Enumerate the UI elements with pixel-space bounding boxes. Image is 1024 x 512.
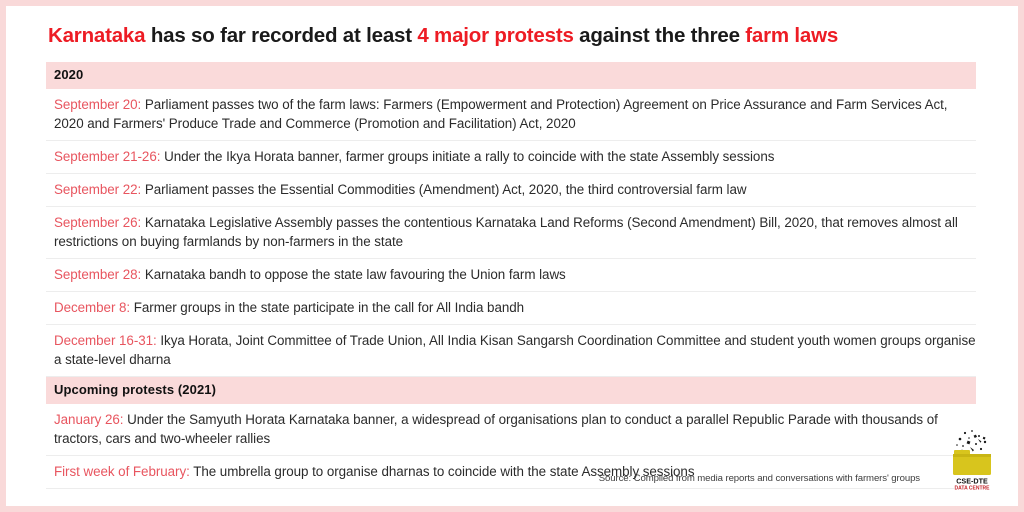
timeline-row-text: Parliament passes the Essential Commodit…	[141, 182, 746, 197]
timeline-row-date: December 16-31:	[54, 333, 157, 348]
timeline-row-text: Karnataka bandh to oppose the state law …	[141, 267, 566, 282]
source-note: Source: Compiled from media reports and …	[6, 473, 992, 484]
logo-line2: DATA CENTRE	[955, 485, 991, 491]
title-segment-2: 4 major protests	[417, 24, 573, 47]
cse-dte-data-centre-logo: CSE-DTE DATA CENTRE	[948, 428, 996, 492]
logo-line1: CSE-DTE	[956, 476, 988, 485]
title-segment-1: has so far recorded at least	[145, 24, 417, 47]
timeline-row-date: September 22:	[54, 182, 141, 197]
timeline-row: September 22: Parliament passes the Esse…	[46, 174, 976, 207]
timeline-row: January 26: Under the Samyuth Horata Kar…	[46, 404, 976, 456]
timeline-row-text: Karnataka Legislative Assembly passes th…	[54, 215, 958, 249]
title-segment-3: against the three	[574, 24, 746, 47]
timeline-row-date: December 8:	[54, 300, 130, 315]
timeline-row: December 8: Farmer groups in the state p…	[46, 292, 976, 325]
section-heading: Upcoming protests (2021)	[46, 377, 976, 404]
timeline-row-date: September 26:	[54, 215, 141, 230]
timeline-row-text: Ikya Horata, Joint Committee of Trade Un…	[54, 333, 976, 367]
infographic-frame: Karnataka has so far recorded at least 4…	[0, 0, 1024, 512]
title-segment-4: farm laws	[745, 24, 838, 47]
timeline-row: September 21-26: Under the Ikya Horata b…	[46, 141, 976, 174]
protest-timeline-table: 2020September 20: Parliament passes two …	[46, 62, 976, 489]
timeline-row-text: Parliament passes two of the farm laws: …	[54, 97, 947, 131]
title-segment-0: Karnataka	[48, 24, 145, 47]
timeline-row-date: January 26:	[54, 412, 123, 427]
section-heading: 2020	[46, 62, 976, 89]
timeline-row-date: September 28:	[54, 267, 141, 282]
timeline-row-date: September 20:	[54, 97, 141, 112]
logo-graphic: CSE-DTE DATA CENTRE	[948, 428, 996, 492]
timeline-row-text: Under the Samyuth Horata Karnataka banne…	[54, 412, 938, 446]
timeline-row-date: September 21-26:	[54, 149, 160, 164]
timeline-row: September 26: Karnataka Legislative Asse…	[46, 207, 976, 259]
timeline-row: September 28: Karnataka bandh to oppose …	[46, 259, 976, 292]
timeline-row: September 20: Parliament passes two of t…	[46, 89, 976, 141]
timeline-row-text: Under the Ikya Horata banner, farmer gro…	[160, 149, 774, 164]
page-title: Karnataka has so far recorded at least 4…	[48, 24, 988, 48]
infographic-card: Karnataka has so far recorded at least 4…	[6, 6, 1018, 506]
timeline-row: December 16-31: Ikya Horata, Joint Commi…	[46, 325, 976, 377]
timeline-row-text: Farmer groups in the state participate i…	[130, 300, 524, 315]
